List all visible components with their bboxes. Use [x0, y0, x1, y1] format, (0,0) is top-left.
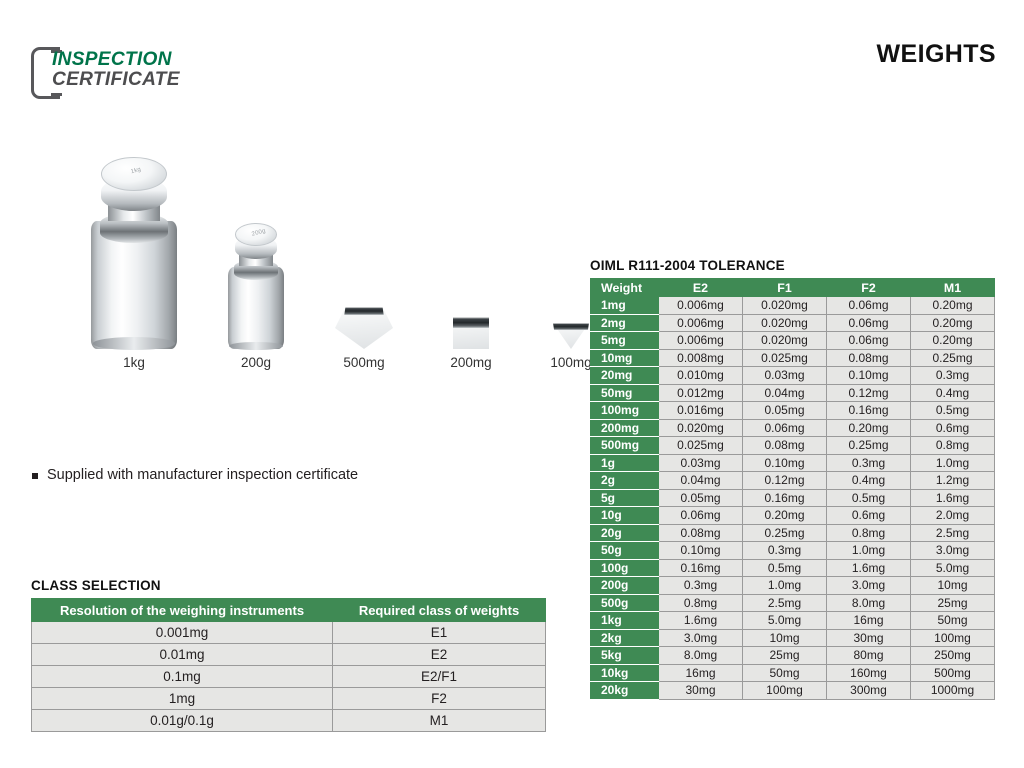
- cell-f2: 0.25mg: [827, 437, 911, 455]
- cell-weight: 500mg: [591, 437, 659, 455]
- logo-wordmark: INSPECTION CERTIFICATE: [52, 50, 182, 90]
- cell-f1: 0.3mg: [743, 542, 827, 560]
- cell-resolution: 0.01g/0.1g: [32, 710, 333, 732]
- column-header-weight: Weight: [591, 279, 659, 297]
- cell-resolution: 0.001mg: [32, 622, 333, 644]
- cell-m1: 5.0mg: [911, 559, 995, 577]
- cell-f2: 0.8mg: [827, 524, 911, 542]
- cell-f2: 0.4mg: [827, 472, 911, 490]
- cell-f1: 0.020mg: [743, 332, 827, 350]
- cell-f2: 0.20mg: [827, 419, 911, 437]
- cell-e2: 1.6mg: [659, 612, 743, 630]
- table-row: 500mg0.025mg0.08mg0.25mg0.8mg: [591, 437, 995, 455]
- column-header-f1: F1: [743, 279, 827, 297]
- cell-f2: 30mg: [827, 629, 911, 647]
- cell-e2: 0.06mg: [659, 507, 743, 525]
- column-header-class: Required class of weights: [333, 599, 546, 622]
- cell-m1: 0.3mg: [911, 367, 995, 385]
- cell-e2: 0.05mg: [659, 489, 743, 507]
- table-row: 2mg0.006mg0.020mg0.06mg0.20mg: [591, 314, 995, 332]
- cell-f1: 1.0mg: [743, 577, 827, 595]
- table-row: 20g0.08mg0.25mg0.8mg2.5mg: [591, 524, 995, 542]
- cell-f2: 0.3mg: [827, 454, 911, 472]
- table-row: 0.1mg E2/F1: [32, 666, 546, 688]
- cell-m1: 0.20mg: [911, 332, 995, 350]
- logo-bracket-notch-bottom: [51, 93, 62, 96]
- column-header-resolution: Resolution of the weighing instruments: [32, 599, 333, 622]
- cell-m1: 10mg: [911, 577, 995, 595]
- table-row: 5kg8.0mg25mg80mg250mg: [591, 647, 995, 665]
- cell-f2: 3.0mg: [827, 577, 911, 595]
- cell-e2: 0.020mg: [659, 419, 743, 437]
- cell-weight: 10g: [591, 507, 659, 525]
- cell-f1: 100mg: [743, 682, 827, 700]
- cell-f2: 8.0mg: [827, 594, 911, 612]
- cell-f1: 0.5mg: [743, 559, 827, 577]
- cell-m1: 1000mg: [911, 682, 995, 700]
- cell-m1: 0.20mg: [911, 297, 995, 315]
- table-row: 5g0.05mg0.16mg0.5mg1.6mg: [591, 489, 995, 507]
- cell-e2: 16mg: [659, 664, 743, 682]
- cell-m1: 1.2mg: [911, 472, 995, 490]
- weight-edge-band: [453, 317, 489, 328]
- cell-f1: 50mg: [743, 664, 827, 682]
- weight-art-500mg: [335, 307, 393, 349]
- table-header-row: Resolution of the weighing instruments R…: [32, 599, 546, 622]
- cell-f1: 10mg: [743, 629, 827, 647]
- logo-line-2: CERTIFICATE: [52, 70, 180, 90]
- cell-e2: 0.04mg: [659, 472, 743, 490]
- cell-f2: 0.10mg: [827, 367, 911, 385]
- cell-resolution: 1mg: [32, 688, 333, 710]
- cell-e2: 0.006mg: [659, 332, 743, 350]
- cell-f2: 160mg: [827, 664, 911, 682]
- cell-resolution: 0.01mg: [32, 644, 333, 666]
- product-caption-1kg: 1kg: [78, 355, 190, 370]
- cell-e2: 0.3mg: [659, 577, 743, 595]
- cell-m1: 100mg: [911, 629, 995, 647]
- table-row: 10g0.06mg0.20mg0.6mg2.0mg: [591, 507, 995, 525]
- product-caption-500mg: 500mg: [308, 355, 420, 370]
- class-selection-table: Resolution of the weighing instruments R…: [31, 598, 546, 732]
- cell-f1: 0.12mg: [743, 472, 827, 490]
- cell-weight: 2g: [591, 472, 659, 490]
- weight-art-200g: 200g: [228, 222, 284, 349]
- column-header-e2: E2: [659, 279, 743, 297]
- product-caption-200mg: 200mg: [415, 355, 527, 370]
- cell-m1: 25mg: [911, 594, 995, 612]
- weight-art-1kg: 1kg: [91, 155, 177, 349]
- weight-edge-band: [553, 323, 589, 330]
- table-header-row: Weight E2 F1 F2 M1: [591, 279, 995, 297]
- cell-weight: 100mg: [591, 402, 659, 420]
- cell-m1: 2.5mg: [911, 524, 995, 542]
- cell-f1: 5.0mg: [743, 612, 827, 630]
- cell-weight: 20g: [591, 524, 659, 542]
- table-row: 50mg0.012mg0.04mg0.12mg0.4mg: [591, 384, 995, 402]
- cell-e2: 0.012mg: [659, 384, 743, 402]
- cell-m1: 1.6mg: [911, 489, 995, 507]
- cell-m1: 0.5mg: [911, 402, 995, 420]
- cell-f1: 0.08mg: [743, 437, 827, 455]
- table-row: 2kg3.0mg10mg30mg100mg: [591, 629, 995, 647]
- table-row: 500g0.8mg2.5mg8.0mg25mg: [591, 594, 995, 612]
- cell-resolution: 0.1mg: [32, 666, 333, 688]
- cell-f1: 2.5mg: [743, 594, 827, 612]
- cell-m1: 0.25mg: [911, 349, 995, 367]
- cell-e2: 0.16mg: [659, 559, 743, 577]
- table-row: 20mg0.010mg0.03mg0.10mg0.3mg: [591, 367, 995, 385]
- cell-weight: 5kg: [591, 647, 659, 665]
- cell-f1: 0.10mg: [743, 454, 827, 472]
- cell-weight: 20kg: [591, 682, 659, 700]
- cell-e2: 8.0mg: [659, 647, 743, 665]
- cell-m1: 0.20mg: [911, 314, 995, 332]
- cell-class: E1: [333, 622, 546, 644]
- cell-weight: 10mg: [591, 349, 659, 367]
- cell-m1: 250mg: [911, 647, 995, 665]
- cell-f1: 0.25mg: [743, 524, 827, 542]
- cell-f2: 300mg: [827, 682, 911, 700]
- product-caption-200g: 200g: [200, 355, 312, 370]
- cell-class: E2/F1: [333, 666, 546, 688]
- cell-f1: 25mg: [743, 647, 827, 665]
- cell-weight: 1kg: [591, 612, 659, 630]
- bullet-square-icon: [32, 473, 38, 479]
- cell-weight: 5mg: [591, 332, 659, 350]
- cell-e2: 0.006mg: [659, 297, 743, 315]
- product-item-500mg: 500mg: [308, 307, 420, 370]
- cell-f2: 1.0mg: [827, 542, 911, 560]
- cell-class: E2: [333, 644, 546, 666]
- product-item-200g: 200g 200g: [200, 222, 312, 370]
- cell-weight: 1g: [591, 454, 659, 472]
- cell-f1: 0.03mg: [743, 367, 827, 385]
- cell-f2: 16mg: [827, 612, 911, 630]
- cell-f2: 0.06mg: [827, 297, 911, 315]
- weight-cap: 200g: [235, 223, 278, 246]
- table-row: 2g0.04mg0.12mg0.4mg1.2mg: [591, 472, 995, 490]
- column-header-f2: F2: [827, 279, 911, 297]
- cell-m1: 2.0mg: [911, 507, 995, 525]
- table-row: 1mg F2: [32, 688, 546, 710]
- cell-class: F2: [333, 688, 546, 710]
- class-selection-heading: CLASS SELECTION: [31, 578, 546, 593]
- weight-art-100mg: [553, 323, 589, 349]
- class-selection-body: 0.001mg E1 0.01mg E2 0.1mg E2/F1 1mg F2 …: [32, 622, 546, 732]
- cell-weight: 200g: [591, 577, 659, 595]
- weight-stamp: 1kg: [130, 167, 142, 176]
- page-title: WEIGHTS: [877, 40, 996, 69]
- cell-f2: 0.5mg: [827, 489, 911, 507]
- cell-f1: 0.20mg: [743, 507, 827, 525]
- table-row: 10kg16mg50mg160mg500mg: [591, 664, 995, 682]
- cell-f2: 0.16mg: [827, 402, 911, 420]
- cell-m1: 0.8mg: [911, 437, 995, 455]
- cell-weight: 50g: [591, 542, 659, 560]
- cell-f1: 0.05mg: [743, 402, 827, 420]
- cell-weight: 2mg: [591, 314, 659, 332]
- cell-f2: 0.12mg: [827, 384, 911, 402]
- product-item-200mg: 200mg: [415, 317, 527, 370]
- cell-weight: 200mg: [591, 419, 659, 437]
- inspection-certificate-logo: INSPECTION CERTIFICATE: [30, 45, 200, 97]
- cell-m1: 50mg: [911, 612, 995, 630]
- weight-art-200mg: [453, 317, 489, 349]
- cell-weight: 50mg: [591, 384, 659, 402]
- cell-weight: 100g: [591, 559, 659, 577]
- cell-f1: 0.06mg: [743, 419, 827, 437]
- cell-f1: 0.16mg: [743, 489, 827, 507]
- weight-stamp: 200g: [251, 228, 266, 238]
- table-row: 100g0.16mg0.5mg1.6mg5.0mg: [591, 559, 995, 577]
- cell-class: M1: [333, 710, 546, 732]
- table-row: 1g0.03mg0.10mg0.3mg1.0mg: [591, 454, 995, 472]
- cell-f2: 0.06mg: [827, 332, 911, 350]
- cell-f2: 0.6mg: [827, 507, 911, 525]
- table-row: 1kg1.6mg5.0mg16mg50mg: [591, 612, 995, 630]
- table-row: 5mg0.006mg0.020mg0.06mg0.20mg: [591, 332, 995, 350]
- weight-cap: 1kg: [101, 157, 166, 191]
- table-row: 0.01mg E2: [32, 644, 546, 666]
- column-header-m1: M1: [911, 279, 995, 297]
- table-row: 1mg0.006mg0.020mg0.06mg0.20mg: [591, 297, 995, 315]
- cell-e2: 0.016mg: [659, 402, 743, 420]
- table-row: 200g0.3mg1.0mg3.0mg10mg: [591, 577, 995, 595]
- tolerance-section: OIML R111-2004 TOLERANCE Weight E2 F1 F2…: [590, 258, 995, 700]
- cell-e2: 0.006mg: [659, 314, 743, 332]
- cell-f1: 0.04mg: [743, 384, 827, 402]
- tolerance-table: Weight E2 F1 F2 M1 1mg0.006mg0.020mg0.06…: [590, 278, 995, 700]
- table-row: 0.001mg E1: [32, 622, 546, 644]
- product-item-1kg: 1kg 1kg: [78, 155, 190, 370]
- cell-m1: 1.0mg: [911, 454, 995, 472]
- cell-weight: 500g: [591, 594, 659, 612]
- cell-m1: 500mg: [911, 664, 995, 682]
- feature-bullet-list: Supplied with manufacturer inspection ce…: [32, 466, 552, 485]
- cell-m1: 0.6mg: [911, 419, 995, 437]
- cell-e2: 0.008mg: [659, 349, 743, 367]
- cell-m1: 3.0mg: [911, 542, 995, 560]
- cell-e2: 0.025mg: [659, 437, 743, 455]
- cell-weight: 2kg: [591, 629, 659, 647]
- table-row: 200mg0.020mg0.06mg0.20mg0.6mg: [591, 419, 995, 437]
- cell-weight: 20mg: [591, 367, 659, 385]
- cell-f2: 0.08mg: [827, 349, 911, 367]
- cell-weight: 1mg: [591, 297, 659, 315]
- cell-weight: 5g: [591, 489, 659, 507]
- cell-f1: 0.020mg: [743, 297, 827, 315]
- cell-m1: 0.4mg: [911, 384, 995, 402]
- table-row: 50g0.10mg0.3mg1.0mg3.0mg: [591, 542, 995, 560]
- cell-f1: 0.020mg: [743, 314, 827, 332]
- table-row: 0.01g/0.1g M1: [32, 710, 546, 732]
- cell-e2: 0.010mg: [659, 367, 743, 385]
- cell-f1: 0.025mg: [743, 349, 827, 367]
- table-row: 10mg0.008mg0.025mg0.08mg0.25mg: [591, 349, 995, 367]
- cell-f2: 80mg: [827, 647, 911, 665]
- tolerance-heading: OIML R111-2004 TOLERANCE: [590, 258, 995, 273]
- cell-f2: 1.6mg: [827, 559, 911, 577]
- class-selection-section: CLASS SELECTION Resolution of the weighi…: [31, 578, 546, 732]
- cell-e2: 0.10mg: [659, 542, 743, 560]
- cell-e2: 0.8mg: [659, 594, 743, 612]
- cell-weight: 10kg: [591, 664, 659, 682]
- cell-e2: 0.08mg: [659, 524, 743, 542]
- cell-e2: 0.03mg: [659, 454, 743, 472]
- list-item: Supplied with manufacturer inspection ce…: [32, 466, 552, 485]
- tolerance-table-body: 1mg0.006mg0.020mg0.06mg0.20mg2mg0.006mg0…: [591, 297, 995, 700]
- product-image-row: 1kg 1kg 200g 200g 500mg 200mg: [60, 140, 550, 370]
- cell-e2: 3.0mg: [659, 629, 743, 647]
- cell-f2: 0.06mg: [827, 314, 911, 332]
- cell-e2: 30mg: [659, 682, 743, 700]
- table-row: 20kg30mg100mg300mg1000mg: [591, 682, 995, 700]
- bullet-text: Supplied with manufacturer inspection ce…: [47, 466, 358, 485]
- table-row: 100mg0.016mg0.05mg0.16mg0.5mg: [591, 402, 995, 420]
